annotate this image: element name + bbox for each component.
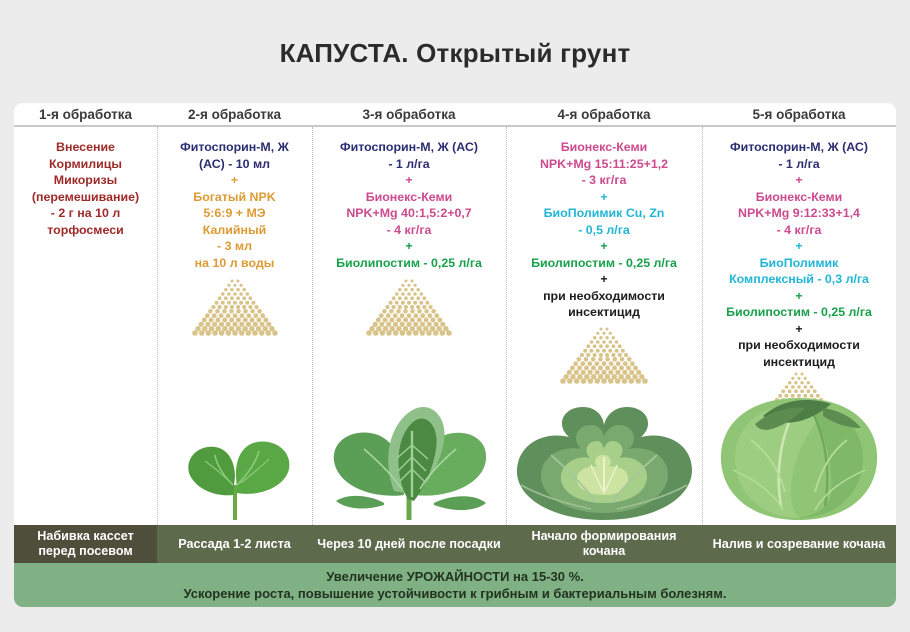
leaf-rosette-illustration <box>324 395 494 525</box>
column-header-4: 4-я обработка <box>506 103 702 125</box>
sprayer-icon <box>192 277 278 344</box>
column-header-row: 1-я обработка 2-я обработка 3-я обработк… <box>14 103 896 127</box>
plus-separator: + <box>726 172 872 189</box>
treatment-line: - 0,5 л/га <box>531 222 677 239</box>
seedling-illustration <box>175 425 295 525</box>
plus-separator: + <box>531 271 677 288</box>
treatment-line: - 4 кг/га <box>336 222 482 239</box>
treatment-line: NPK+Mg 15:11:25+1,2 <box>531 156 677 173</box>
treatment-line: Бионекс-Кеми <box>336 189 482 206</box>
sprayer-icon <box>366 277 452 344</box>
stage-label-3: Через 10 дней после посадки <box>312 525 506 563</box>
treatment-line: - 1 л/га <box>336 156 482 173</box>
illustration-1 <box>14 238 157 525</box>
treatment-line: Фитоспорин-М, Ж (АС) <box>726 139 872 156</box>
treatment-line: при необходимости <box>726 337 872 354</box>
stage-label-2: Рассада 1-2 листа <box>157 525 312 563</box>
treatment-line: Микоризы <box>32 172 139 189</box>
stage-label-4: Начало формирования кочана <box>506 525 702 563</box>
treatment-column-4: Бионекс-КемиNPK+Mg 15:11:25+1,2- 3 кг/га… <box>506 127 702 525</box>
treatment-text-2: Фитоспорин-М, Ж(АС) - 10 мл+Богатый NPK5… <box>174 139 295 271</box>
plus-separator: + <box>726 238 872 255</box>
treatment-line: Биолипостим - 0,25 л/га <box>531 255 677 272</box>
stage-label-1: Набивка кассет перед посевом <box>14 525 157 563</box>
plus-separator: + <box>336 172 482 189</box>
treatment-line: (перемешивание) <box>32 189 139 206</box>
treatment-column-5: Фитоспорин-М, Ж (АС)- 1 л/га+Бионекс-Кем… <box>702 127 896 525</box>
plus-separator: + <box>531 189 677 206</box>
footer-line-1: Увеличение УРОЖАЙНОСТИ на 15-30 %. <box>326 568 584 585</box>
treatment-line: Биолипостим - 0,25 л/га <box>336 255 482 272</box>
treatment-line: Бионекс-Кеми <box>531 139 677 156</box>
illustration-4 <box>506 321 702 526</box>
treatment-line: (АС) - 10 мл <box>180 156 289 173</box>
column-header-3: 3-я обработка <box>312 103 506 125</box>
treatment-line: БиоПолимик Cu, Zn <box>531 205 677 222</box>
plus-separator: + <box>336 238 482 255</box>
treatment-line: Кормилицы <box>32 156 139 173</box>
illustration-5 <box>702 370 896 525</box>
illustration-2 <box>157 271 312 525</box>
growth-stage-row: Набивка кассет перед посевом Рассада 1-2… <box>14 525 896 563</box>
treatment-line: Фитоспорин-М, Ж (АС) <box>336 139 482 156</box>
benefits-footer: Увеличение УРОЖАЙНОСТИ на 15-30 %. Ускор… <box>14 563 896 607</box>
heading-cabbage-illustration <box>511 385 697 525</box>
treatment-line: БиоПолимик <box>726 255 872 272</box>
treatment-line: инсектицид <box>531 304 677 321</box>
treatment-line: Богатый NPK <box>180 189 289 206</box>
treatment-line: - 1 л/га <box>726 156 872 173</box>
plus-separator: + <box>726 321 872 338</box>
column-header-2: 2-я обработка <box>157 103 312 125</box>
treatment-text-3: Фитоспорин-М, Ж (АС)- 1 л/га+Бионекс-Кем… <box>330 139 488 271</box>
treatment-line: - 3 кг/га <box>531 172 677 189</box>
treatment-line: инсектицид <box>726 354 872 371</box>
column-header-1: 1-я обработка <box>14 103 157 125</box>
treatment-line: NPK+Mg 9:12:33+1,4 <box>726 205 872 222</box>
treatment-column-3: Фитоспорин-М, Ж (АС)- 1 л/га+Бионекс-Кем… <box>312 127 506 525</box>
treatment-text-4: Бионекс-КемиNPK+Mg 15:11:25+1,2- 3 кг/га… <box>525 139 683 321</box>
sprayer-icon <box>560 325 648 392</box>
treatment-line: при необходимости <box>531 288 677 305</box>
treatment-line: Бионекс-Кеми <box>726 189 872 206</box>
mature-cabbage-illustration <box>711 370 887 525</box>
stage-label-5: Налив и созревание кочана <box>702 525 896 563</box>
treatment-line: Комплексный - 0,3 л/га <box>726 271 872 288</box>
treatment-line: - 4 кг/га <box>726 222 872 239</box>
treatment-line: Внесение <box>32 139 139 156</box>
treatment-column-2: Фитоспорин-М, Ж(АС) - 10 мл+Богатый NPK5… <box>157 127 312 525</box>
treatment-line: торфосмеси <box>32 222 139 239</box>
treatment-schedule-card: 1-я обработка 2-я обработка 3-я обработк… <box>14 103 896 607</box>
plus-separator: + <box>180 172 289 189</box>
treatment-line: на 10 л воды <box>180 255 289 272</box>
treatment-line: - 3 мл <box>180 238 289 255</box>
page-title: КАПУСТА. Открытый грунт <box>0 38 910 69</box>
treatment-line: NPK+Mg 40:1,5:2+0,7 <box>336 205 482 222</box>
illustration-3 <box>312 271 506 525</box>
treatment-line: 5:6:9 + МЭ <box>180 205 289 222</box>
footer-line-2: Ускорение роста, повышение устойчивости … <box>184 585 727 602</box>
treatment-line: - 2 г на 10 л <box>32 205 139 222</box>
treatment-line: Калийный <box>180 222 289 239</box>
plus-separator: + <box>531 238 677 255</box>
treatment-column-1: ВнесениеКормилицыМикоризы(перемешивание)… <box>14 127 157 525</box>
plus-separator: + <box>726 288 872 305</box>
treatment-columns: ВнесениеКормилицыМикоризы(перемешивание)… <box>14 127 896 525</box>
treatment-line: Фитоспорин-М, Ж <box>180 139 289 156</box>
treatment-text-1: ВнесениеКормилицыМикоризы(перемешивание)… <box>26 139 145 238</box>
treatment-text-5: Фитоспорин-М, Ж (АС)- 1 л/га+Бионекс-Кем… <box>720 139 878 370</box>
column-header-5: 5-я обработка <box>702 103 896 125</box>
treatment-line: Биолипостим - 0,25 л/га <box>726 304 872 321</box>
